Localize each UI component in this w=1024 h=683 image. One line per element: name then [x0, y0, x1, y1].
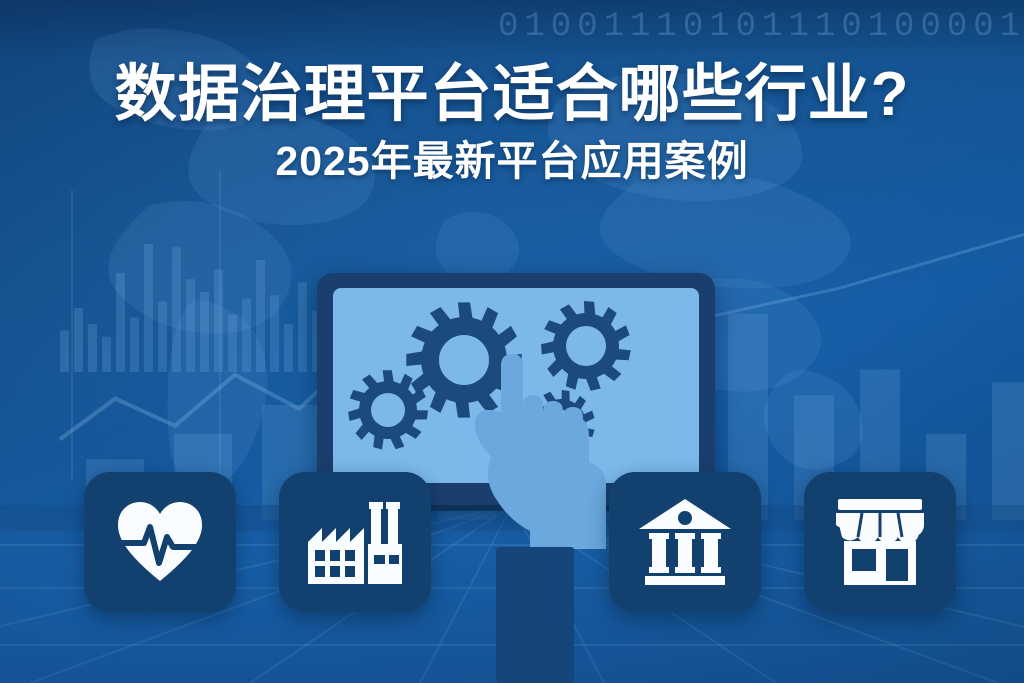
pointing-hand-and-arm: [460, 455, 620, 683]
factory-icon: [306, 498, 404, 586]
storefront-icon: [832, 497, 928, 587]
banner-image: 0100111010111010000101010 01 数据治理平台适合哪些行…: [0, 0, 1024, 683]
page-subtitle: 2025年最新平台应用案例: [0, 139, 1024, 184]
gear-medium-right: [541, 301, 631, 391]
binary-code-text: 0100111010111010000101010 01: [498, 8, 1024, 46]
page-title: 数据治理平台适合哪些行业?: [0, 62, 1024, 129]
sleeve: [496, 547, 574, 683]
heart-pulse-icon: [114, 499, 206, 585]
monitor-screen: [333, 288, 699, 483]
industry-card-healthcare[interactable]: [84, 472, 236, 612]
industry-card-finance[interactable]: [609, 472, 761, 612]
industry-card-retail[interactable]: [804, 472, 956, 612]
headline-block: 数据治理平台适合哪些行业? 2025年最新平台应用案例: [0, 62, 1024, 184]
screen-contents: [333, 288, 699, 483]
bank-icon: [637, 497, 733, 587]
industry-card-manufacturing[interactable]: [279, 472, 431, 612]
